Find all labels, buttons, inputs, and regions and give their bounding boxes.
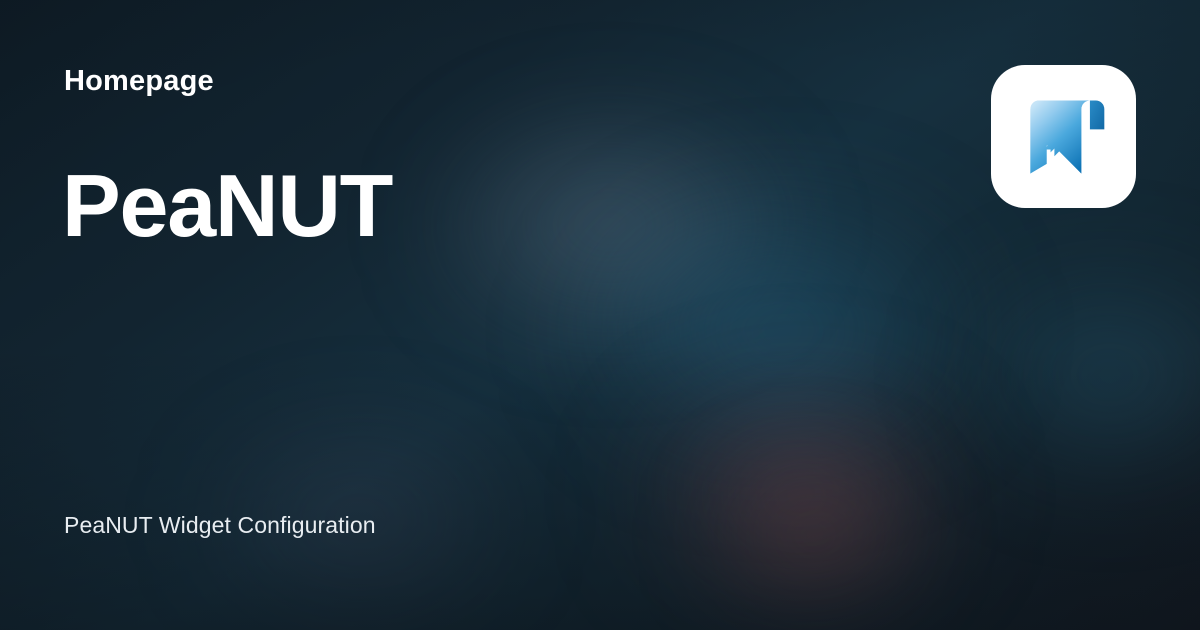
page-title: PeaNUT [62,160,392,252]
card-content: Homepage PeaNUT PeaNUT Widget Configurat… [0,0,1200,630]
app-icon-tile [991,65,1136,208]
page-subtitle: PeaNUT Widget Configuration [64,512,376,540]
breadcrumb: Homepage [64,66,214,98]
og-preview-card: Homepage PeaNUT PeaNUT Widget Configurat… [0,0,1200,630]
homepage-bookmark-house-icon [1016,89,1112,185]
